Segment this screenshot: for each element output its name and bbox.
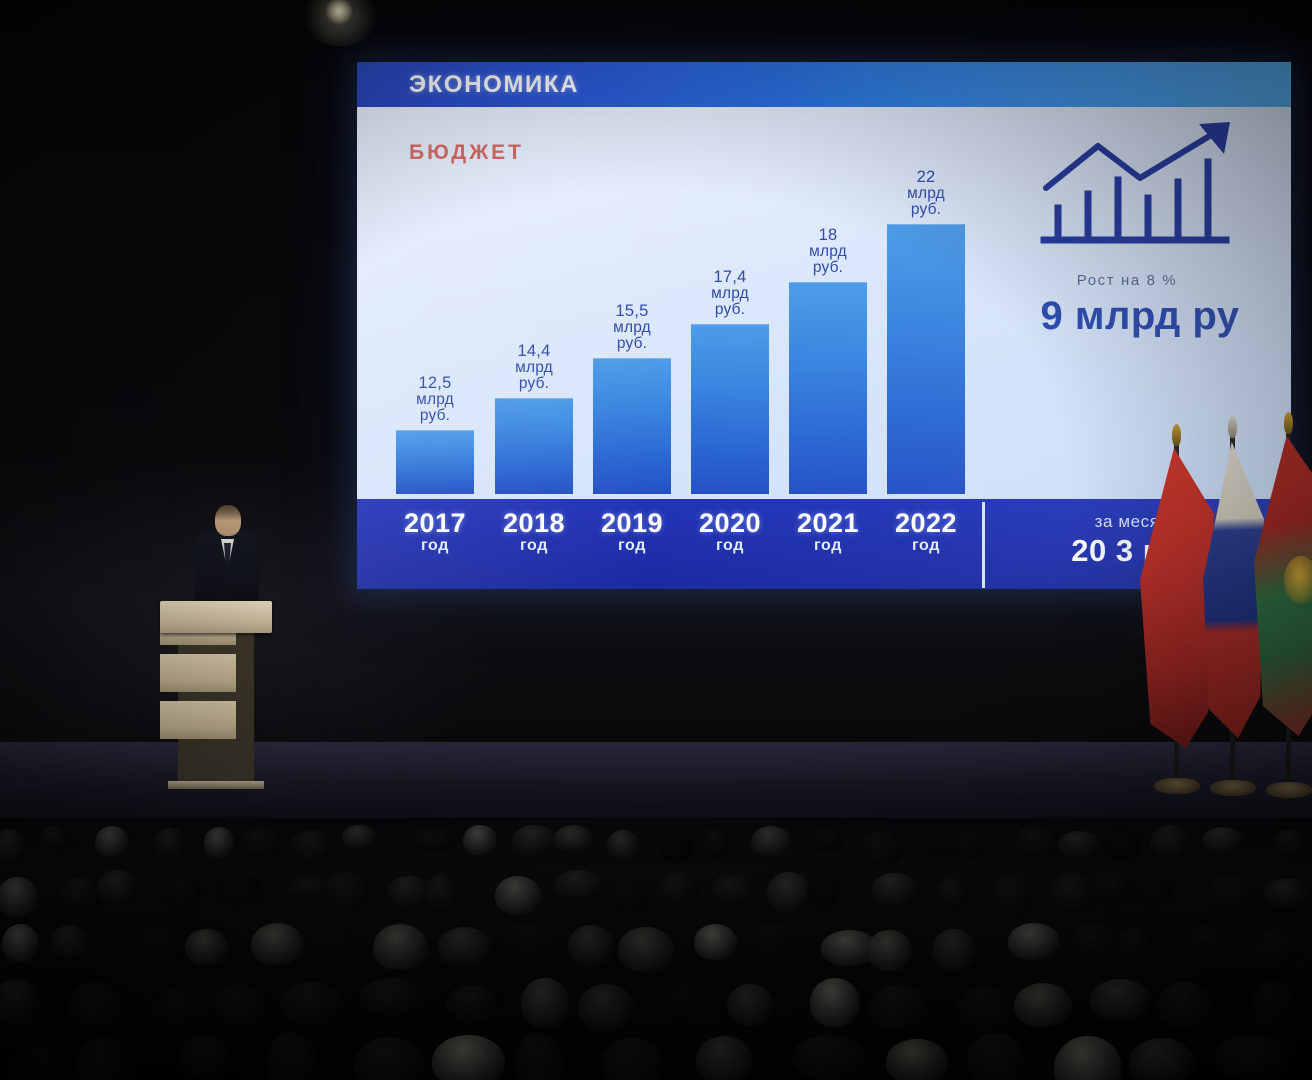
bar-2017	[396, 430, 474, 494]
year-number: 2020	[691, 508, 769, 539]
audience-head	[521, 978, 569, 1028]
year-sublabel: год	[789, 537, 867, 555]
growth-value: 9 млрд ру	[990, 294, 1290, 339]
audience-head	[212, 984, 269, 1026]
year-sublabel: год	[691, 537, 769, 555]
bar-column: 15,5млрдруб.	[593, 122, 671, 494]
audience-head	[886, 1039, 948, 1080]
slide-header-title: ЭКОНОМИКА	[409, 71, 579, 99]
audience-head	[1150, 825, 1189, 860]
year-sublabel: год	[887, 537, 965, 555]
audience-head	[512, 825, 556, 855]
audience-head	[69, 982, 122, 1032]
audience-head	[867, 930, 912, 971]
audience-head	[1104, 830, 1141, 860]
audience-head	[39, 826, 69, 852]
audience-head	[618, 927, 674, 972]
bar-value-label: 22млрдруб.	[907, 169, 945, 218]
growth-chart-arrow-icon	[1036, 120, 1236, 260]
audience-head	[154, 828, 186, 858]
year-label-2022: 2022год	[887, 508, 965, 555]
bar-value-label: 15,5млрдруб.	[613, 303, 651, 352]
lectern-base	[168, 781, 264, 789]
audience-head	[446, 985, 499, 1022]
flag-finial	[1284, 412, 1293, 434]
year-number: 2017	[396, 508, 474, 539]
audience-head	[751, 826, 791, 856]
flag-finial	[1228, 416, 1237, 438]
audience-head	[239, 827, 282, 858]
audience-head	[1272, 829, 1307, 859]
audience-head	[578, 984, 634, 1031]
year-number: 2018	[495, 508, 573, 539]
audience-head	[871, 873, 917, 905]
flag-russia-tricolor	[1202, 442, 1264, 738]
bar-column: 18млрдруб.	[789, 122, 867, 494]
year-number: 2021	[789, 508, 867, 539]
speaker-head	[215, 505, 241, 536]
audience-head	[1205, 875, 1255, 915]
audience-head	[1091, 871, 1133, 906]
bar-2020	[691, 324, 769, 494]
audience-head	[554, 825, 593, 852]
audience-head	[134, 923, 186, 968]
audience-head	[607, 830, 639, 859]
audience-head	[424, 875, 458, 911]
flag-group	[1136, 440, 1312, 800]
audience-head	[180, 1034, 229, 1079]
speaker-figure	[195, 505, 259, 615]
flag-finial	[1172, 424, 1181, 446]
audience-head	[709, 875, 757, 904]
audience-head	[1263, 878, 1311, 909]
audience-head	[954, 832, 987, 859]
audience-head	[859, 831, 903, 865]
lectern-segment	[160, 654, 236, 692]
audience-head	[0, 979, 40, 1026]
bar-column: 12,5млрдруб.	[396, 122, 474, 494]
audience-head	[432, 1035, 505, 1080]
audience-head	[1250, 981, 1295, 1033]
audience-head	[1014, 826, 1057, 859]
audience-head	[204, 827, 234, 858]
year-sublabel: год	[396, 537, 474, 555]
audience-head	[1014, 983, 1072, 1027]
bar-2021	[789, 282, 867, 494]
bar-value-label: 17,4млрдруб.	[711, 269, 749, 318]
bar-column: 14,4млрдруб.	[495, 122, 573, 494]
audience-head	[280, 982, 342, 1024]
audience-head	[501, 923, 558, 958]
audience-head	[342, 825, 376, 849]
audience-head	[373, 924, 428, 970]
audience-head	[1050, 873, 1094, 913]
audience-head	[1202, 827, 1244, 853]
audience-head	[657, 872, 699, 908]
audience-head	[2, 924, 39, 962]
year-sublabel: год	[495, 537, 573, 555]
audience-head	[290, 830, 335, 863]
lectern	[160, 601, 272, 787]
audience-head	[60, 877, 102, 913]
audience-head	[359, 978, 423, 1016]
audience-head	[792, 1035, 866, 1080]
audience-head	[1114, 927, 1152, 964]
audience-head	[50, 925, 89, 960]
audience-head	[305, 928, 358, 960]
year-number: 2019	[593, 508, 671, 539]
audience-silhouettes	[0, 818, 1312, 1080]
footer-divider	[982, 502, 985, 588]
audience-head	[1058, 831, 1100, 857]
flag-red	[1140, 448, 1214, 748]
audience-head	[664, 984, 707, 1023]
audience-head	[932, 929, 976, 971]
lectern-top	[160, 601, 272, 633]
audience-head	[727, 984, 773, 1026]
bar-value-label: 12,5млрдруб.	[416, 375, 454, 424]
audience-head	[1157, 982, 1211, 1029]
year-label-2019: 2019год	[593, 508, 671, 555]
audience-head	[957, 985, 1014, 1032]
audience-head	[694, 924, 737, 960]
audience-head	[767, 872, 811, 912]
audience-head	[151, 985, 212, 1029]
audience-head	[97, 870, 138, 905]
flag-stand	[1154, 778, 1200, 794]
audience-head	[934, 878, 969, 910]
audience-head	[1215, 1034, 1290, 1080]
audience-head	[554, 870, 603, 899]
bar-2018	[495, 398, 573, 494]
audience-head	[1136, 874, 1172, 906]
year-axis-row: 2017год2018год2019год2020год2021год2022г…	[391, 508, 981, 580]
audience-head	[185, 929, 228, 965]
audience-head	[321, 872, 371, 910]
audience-head	[609, 876, 649, 914]
audience-head	[967, 1033, 1024, 1080]
growth-note: Рост на 8 %	[1002, 272, 1252, 289]
audience-head	[1071, 923, 1118, 962]
audience-head	[700, 828, 730, 859]
year-label-2018: 2018год	[495, 508, 573, 555]
year-number: 2022	[887, 508, 965, 539]
bar-column: 22млрдруб.	[887, 122, 965, 494]
bar-2019	[593, 358, 671, 494]
audience-head	[696, 1036, 753, 1080]
audience-head	[1129, 1038, 1194, 1080]
audience-head	[1255, 928, 1299, 968]
bar-value-label: 14,4млрдруб.	[515, 343, 553, 392]
audience-head	[0, 877, 38, 917]
audience-head	[412, 828, 455, 852]
audience-head	[216, 873, 263, 905]
audience-head	[1183, 925, 1229, 957]
audience-head	[438, 927, 491, 966]
lectern-segment	[160, 701, 236, 739]
audience-head	[95, 826, 129, 857]
audience-head	[1008, 923, 1060, 960]
stage-photo-scene: ЭКОНОМИКА БЮДЖЕТ 12,5млрдруб.14,4млрдруб…	[0, 0, 1312, 1080]
bar-column: 17,4млрдруб.	[691, 122, 769, 494]
bar-2022	[887, 224, 965, 494]
audience-head	[568, 925, 614, 966]
audience-head	[1090, 979, 1151, 1021]
flag-emblem	[1284, 556, 1312, 604]
audience-head	[810, 978, 860, 1027]
audience-head	[749, 922, 796, 957]
audience-head	[868, 985, 927, 1031]
year-label-2021: 2021год	[789, 508, 867, 555]
audience-head	[813, 826, 843, 852]
bar-chart-plot: 12,5млрдруб.14,4млрдруб.15,5млрдруб.17,4…	[391, 122, 981, 494]
audience-head	[658, 829, 693, 863]
flag-stand	[1210, 780, 1256, 796]
audience-head	[807, 872, 840, 906]
audience-head	[495, 876, 541, 915]
audience-head	[463, 825, 497, 855]
year-sublabel: год	[593, 537, 671, 555]
audience-head	[990, 876, 1033, 916]
year-label-2017: 2017год	[396, 508, 474, 555]
audience-head	[251, 923, 304, 965]
bar-value-label: 18млрдруб.	[809, 227, 847, 276]
year-label-2020: 2020год	[691, 508, 769, 555]
audience-head	[163, 871, 201, 909]
flag-stand	[1266, 782, 1312, 798]
